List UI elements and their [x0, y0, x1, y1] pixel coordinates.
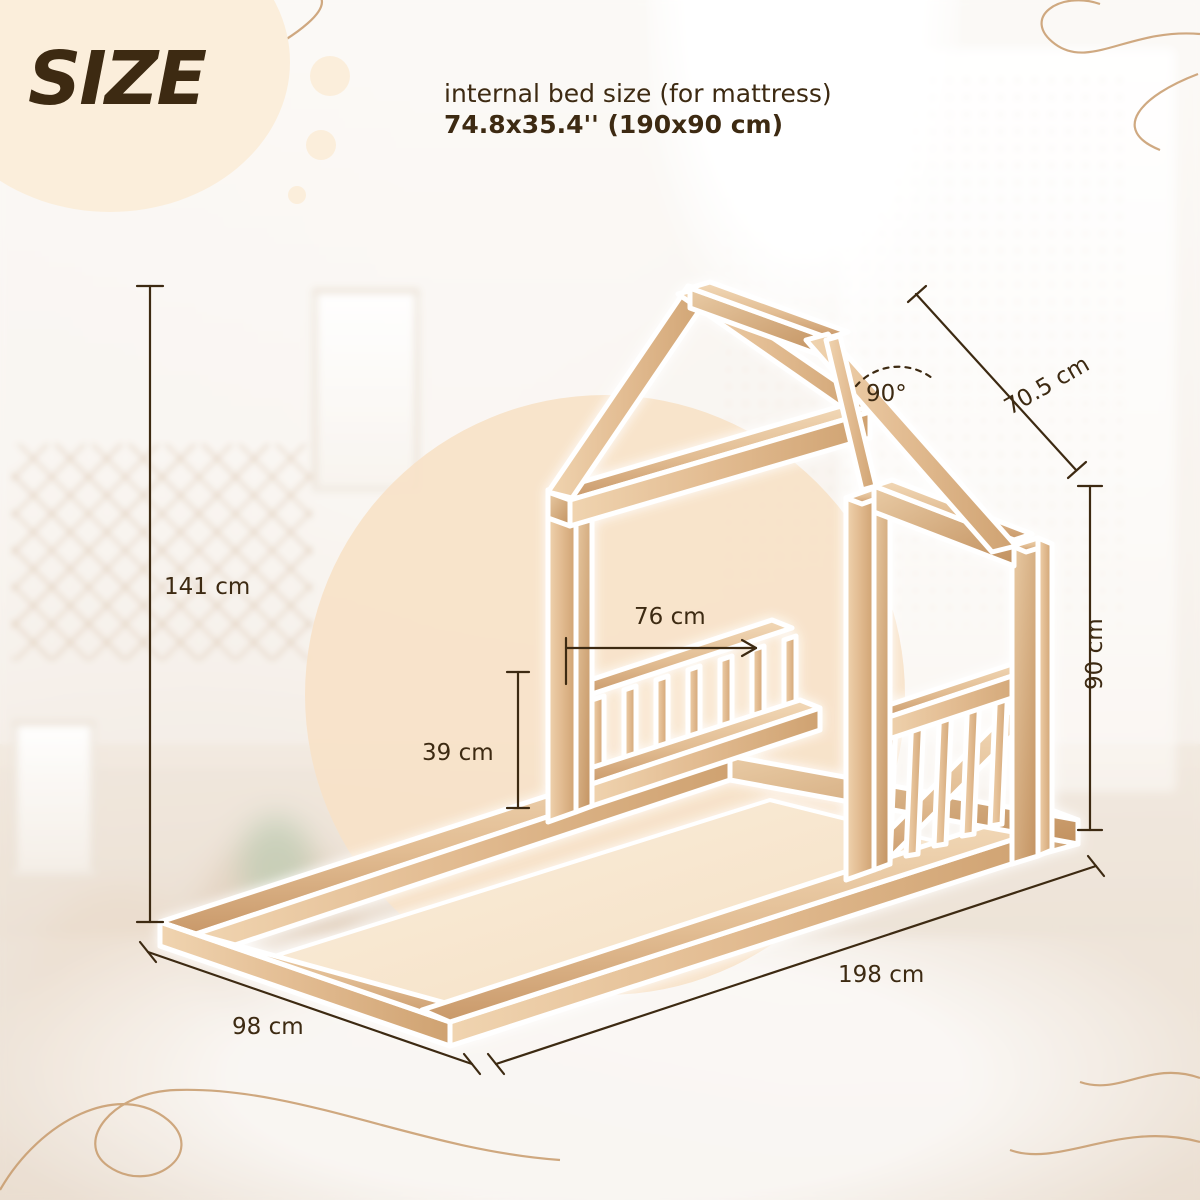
- dimension-label-height: 141 cm: [164, 574, 250, 600]
- dimension-label-roof-angle: 90°: [866, 381, 907, 407]
- dimension-label-side-height: 90 cm: [1082, 618, 1108, 690]
- dimension-lines: [0, 0, 1200, 1200]
- dimension-label-headboard-width: 76 cm: [634, 604, 706, 630]
- product-size-infographic: SIZE internal bed size (for mattress) 74…: [0, 0, 1200, 1200]
- dimension-label-rail-height: 39 cm: [422, 740, 494, 766]
- dimension-label-bed-width: 98 cm: [232, 1014, 304, 1040]
- dimension-label-bed-length: 198 cm: [838, 962, 924, 988]
